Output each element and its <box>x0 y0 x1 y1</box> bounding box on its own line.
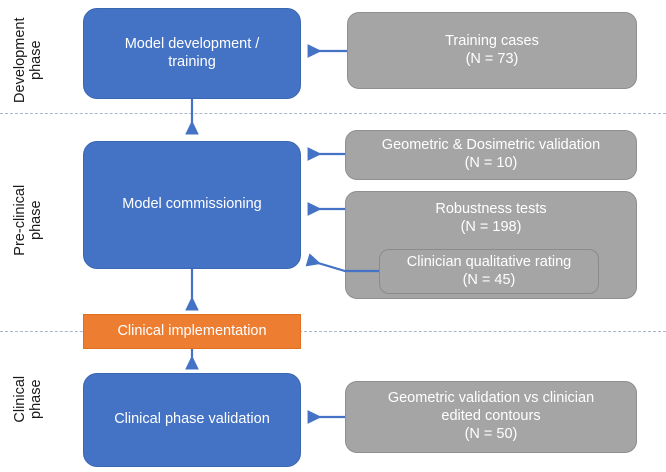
node-clinician-qualitative-rating-count: (N = 45) <box>407 272 571 290</box>
node-geometric-validation-vs-clinician-edited-contours[interactable]: Geometric validation vs clinician edited… <box>345 381 637 453</box>
node-clinician-qualitative-rating-line1: Clinician qualitative rating <box>407 254 571 272</box>
phase-label-preclinical: Pre-clinical phase <box>12 164 44 276</box>
node-geometric-validation-count: (N = 50) <box>388 426 594 444</box>
node-model-commissioning-line1: Model commissioning <box>122 196 261 214</box>
node-robustness-tests-line1: Robustness tests <box>435 201 546 219</box>
phase-label-clinical-line2: phase <box>28 343 44 455</box>
node-clinical-phase-validation[interactable]: Clinical phase validation <box>83 373 301 467</box>
node-training-cases[interactable]: Training cases (N = 73) <box>347 12 637 89</box>
phase-divider-development-preclinical <box>0 113 666 114</box>
phase-label-clinical: Clinical phase <box>12 343 44 455</box>
node-model-commissioning[interactable]: Model commissioning <box>83 141 301 269</box>
phase-label-development-line1: Development <box>12 4 28 116</box>
phase-label-development-line2: phase <box>28 4 44 116</box>
node-geometric-validation-line1: Geometric validation vs clinician <box>388 390 594 408</box>
node-training-cases-count: (N = 73) <box>445 51 539 69</box>
phase-label-development: Development phase <box>12 4 44 116</box>
node-geometric-dosimetric-validation[interactable]: Geometric & Dosimetric validation (N = 1… <box>345 130 637 180</box>
phase-label-clinical-line1: Clinical <box>12 343 28 455</box>
phase-label-preclinical-line2: phase <box>28 164 44 276</box>
node-model-development-training-line1: Model development / <box>125 36 260 54</box>
diagram-canvas: Development phase Pre-clinical phase Cli… <box>0 0 666 472</box>
node-robustness-tests-count: (N = 198) <box>435 219 546 237</box>
node-geometric-dosimetric-validation-line1: Geometric & Dosimetric validation <box>382 137 600 155</box>
phase-label-preclinical-line1: Pre-clinical <box>12 164 28 276</box>
node-training-cases-line1: Training cases <box>445 33 539 51</box>
node-geometric-dosimetric-validation-count: (N = 10) <box>382 155 600 173</box>
node-geometric-validation-line2: edited contours <box>388 408 594 426</box>
node-model-development-training-line2: training <box>125 54 260 72</box>
node-clinical-implementation-line1: Clinical implementation <box>117 323 266 341</box>
node-clinical-phase-validation-line1: Clinical phase validation <box>114 411 270 429</box>
node-clinical-implementation[interactable]: Clinical implementation <box>83 314 301 349</box>
node-model-development-training[interactable]: Model development / training <box>83 8 301 99</box>
node-clinician-qualitative-rating[interactable]: Clinician qualitative rating (N = 45) <box>379 249 599 294</box>
